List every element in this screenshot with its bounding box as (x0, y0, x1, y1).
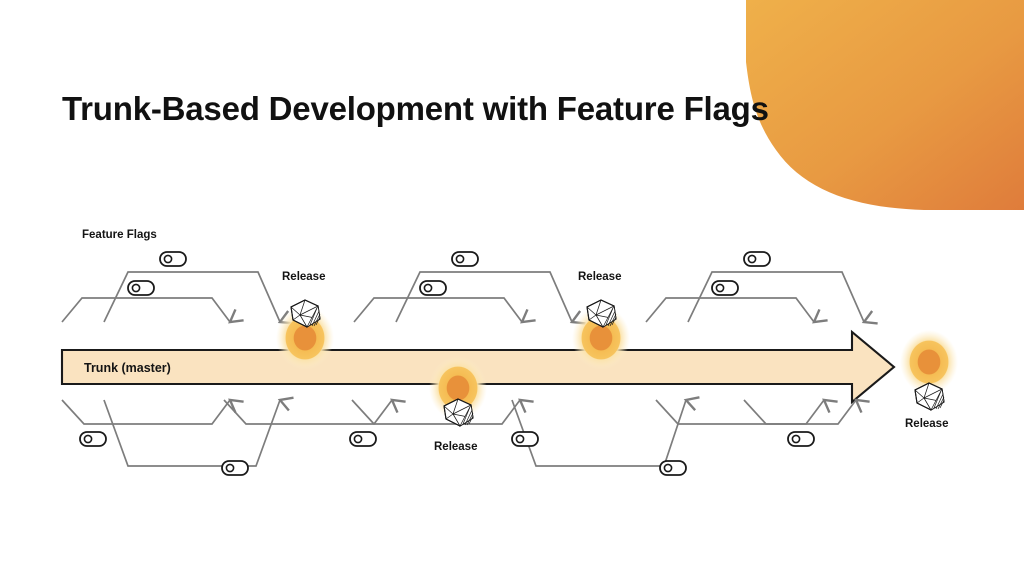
release-label-4: Release (905, 418, 948, 430)
feature-flag-toggle[interactable] (80, 432, 106, 446)
release-label-2: Release (578, 271, 621, 283)
release-marker-4[interactable] (900, 330, 958, 410)
feature-flag-toggle[interactable] (452, 252, 478, 266)
feature-flag-toggle[interactable] (420, 281, 446, 295)
feature-flag-toggle[interactable] (712, 281, 738, 295)
feature-flag-toggle[interactable] (222, 461, 248, 475)
top-branch-group-3 (646, 272, 864, 322)
feature-flags-label: Feature Flags (82, 229, 157, 241)
feature-flag-toggle[interactable] (350, 432, 376, 446)
release-label-1: Release (282, 271, 325, 283)
feature-flag-toggle[interactable] (788, 432, 814, 446)
feature-flag-toggle[interactable] (160, 252, 186, 266)
feature-flag-toggle[interactable] (128, 281, 154, 295)
release-marker-3[interactable] (429, 356, 487, 426)
trunk-development-diagram: Trunk (master) (0, 0, 1024, 571)
feature-flag-toggle[interactable] (744, 252, 770, 266)
slide-canvas: Trunk-Based Development with Feature Fla… (0, 0, 1024, 571)
release-marker-2[interactable] (572, 300, 630, 370)
release-marker-1[interactable] (276, 300, 334, 370)
feature-flag-toggle[interactable] (660, 461, 686, 475)
trunk-label: Trunk (master) (84, 361, 171, 375)
top-branch-group-2 (354, 272, 572, 322)
release-label-3: Release (434, 441, 477, 453)
top-branch-group-1 (62, 272, 280, 322)
feature-flag-toggle[interactable] (512, 432, 538, 446)
